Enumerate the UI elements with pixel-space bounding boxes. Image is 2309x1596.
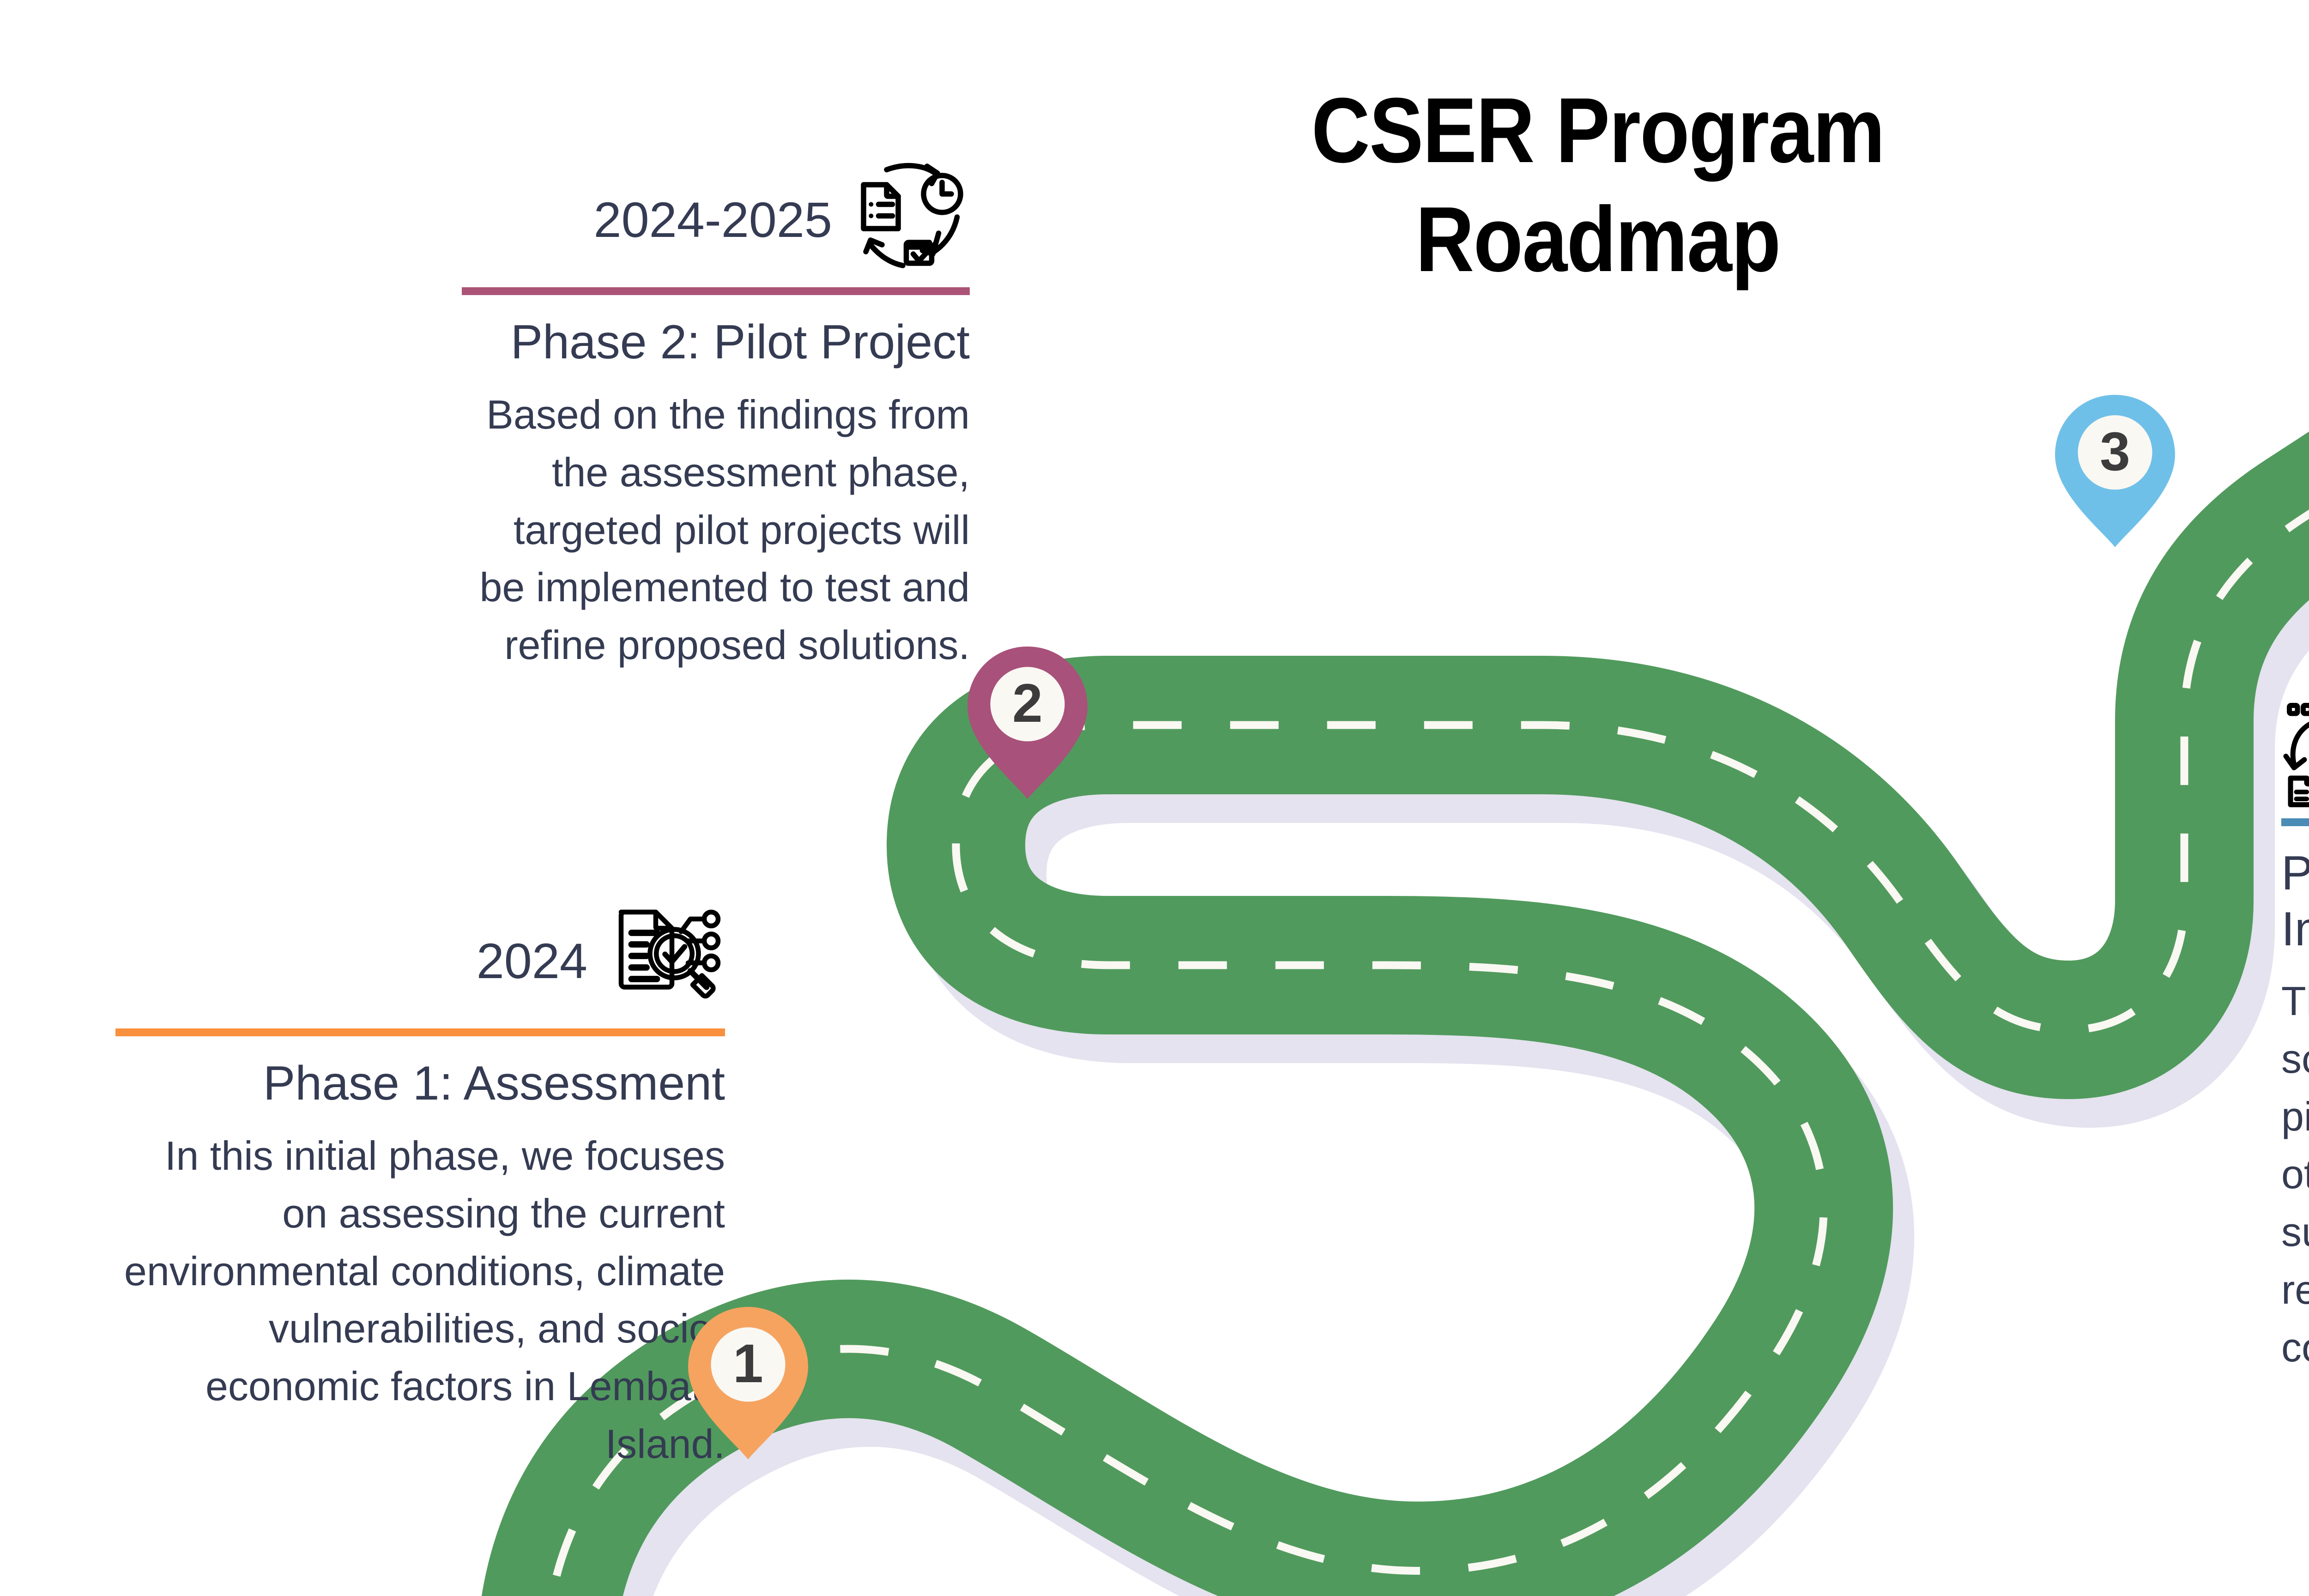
map-pin-marker-2[interactable]: 2	[967, 647, 1088, 799]
pin-2-number: 2	[967, 676, 1088, 731]
phase-2-body: Based on the findings from the assessmen…	[462, 386, 970, 675]
phase-block-2: 2024-2025	[462, 162, 970, 674]
document-magnifier-check-network-icon	[610, 903, 725, 1018]
phase-1-title: Phase 1: Assessment	[115, 1056, 725, 1112]
phase-2-year: 2024-2025	[594, 191, 832, 248]
gear-deployment-package-chart-icon	[2281, 693, 2309, 808]
page-title: CSER Program Roadmap	[1232, 76, 1964, 294]
page-title-line-2: Roadmap	[1232, 185, 1964, 294]
document-clock-checkbox-cycle-icon	[854, 162, 970, 277]
phase-1-header: 2024	[115, 903, 725, 1018]
phase-block-3: 2025-onward Phase 3: Roll-out Implementa…	[2281, 693, 2309, 1377]
map-pin-marker-3[interactable]: 3	[2055, 395, 2175, 547]
phase-2-header: 2024-2025	[462, 162, 970, 277]
page-title-line-1: CSER Program	[1232, 76, 1964, 185]
phase-1-year: 2024	[477, 932, 587, 990]
phase-3-divider	[2281, 818, 2309, 826]
phase-2-divider	[462, 287, 970, 295]
phase-2-title: Phase 2: Pilot Project	[462, 314, 970, 370]
phase-3-title: Phase 3: Roll-out Implementation	[2281, 846, 2309, 957]
phase-3-body: The final phase involves the large-scale…	[2281, 973, 2309, 1377]
pin-1-number: 1	[688, 1336, 808, 1391]
map-pin-marker-1[interactable]: 1	[688, 1307, 808, 1459]
phase-1-divider	[115, 1028, 725, 1036]
phase-3-header: 2025-onward	[2281, 693, 2309, 808]
phase-1-body: In this initial phase, we focuses on ass…	[115, 1127, 725, 1474]
pin-3-number: 3	[2055, 424, 2175, 479]
phase-block-1: 2024	[115, 903, 725, 1473]
roadmap-infographic: CSER Program Roadmap 2024	[0, 0, 2309, 1596]
